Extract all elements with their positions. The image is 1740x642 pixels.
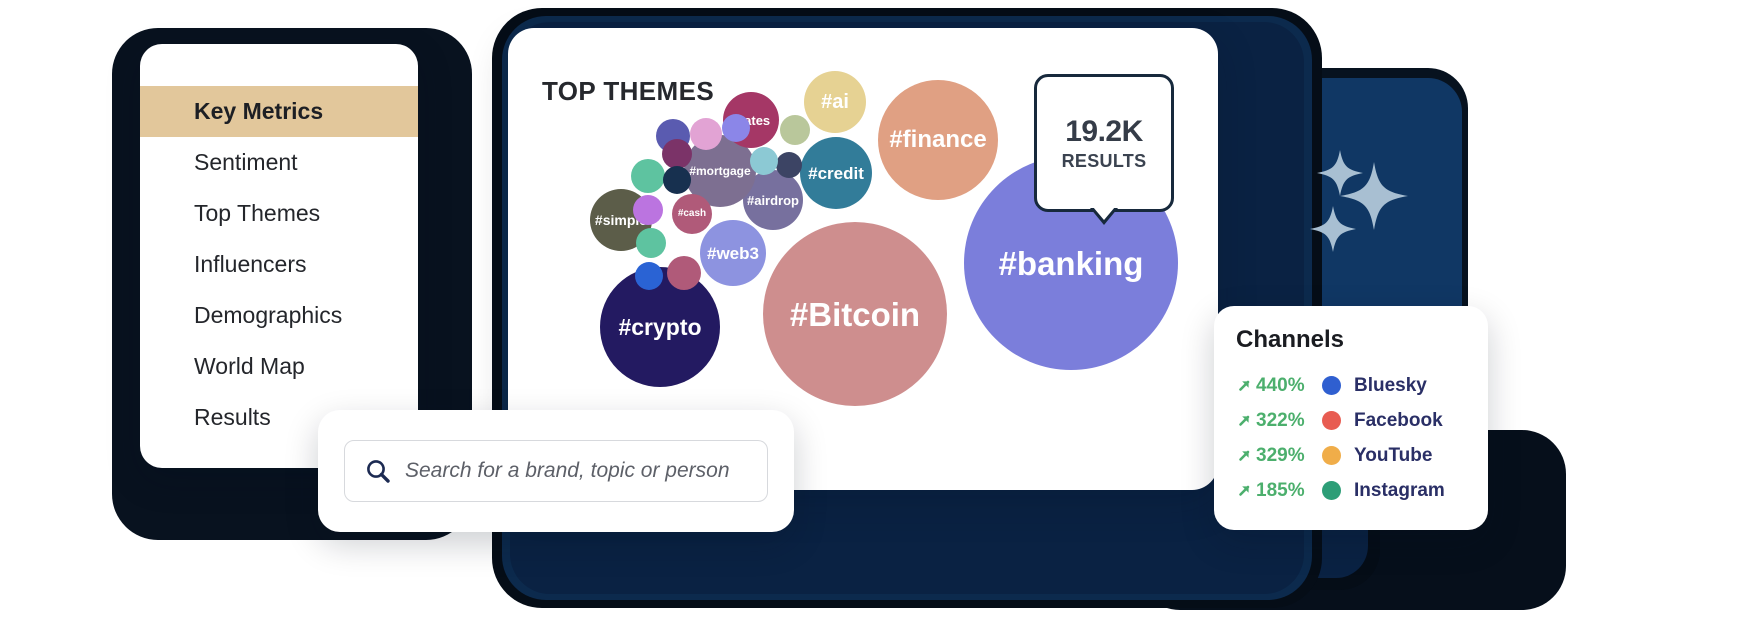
sparkles-icon [1300, 140, 1440, 270]
sidebar-item-influencers[interactable]: Influencers [140, 239, 418, 290]
search-panel: Search for a brand, topic or person [318, 410, 794, 532]
sidebar-item-label: Demographics [194, 302, 342, 329]
channel-delta: 329% [1236, 445, 1318, 467]
results-label: RESULTS [1062, 151, 1147, 172]
bubble-label: #cash [678, 209, 706, 219]
channel-delta-value: 440% [1256, 375, 1305, 397]
bubble-label: #credit [808, 165, 864, 182]
bubble-decorative[interactable] [663, 166, 691, 194]
bubble-decorative[interactable] [633, 195, 663, 225]
search-placeholder: Search for a brand, topic or person [405, 459, 730, 483]
sidebar-panel: Key Metrics Sentiment Top Themes Influen… [140, 44, 418, 468]
channels-panel: Channels 440%Bluesky322%Facebook329%YouT… [1214, 306, 1488, 530]
results-callout: 19.2K RESULTS [1034, 74, 1174, 212]
sidebar-item-label: Top Themes [194, 200, 320, 227]
sidebar-item-world-map[interactable]: World Map [140, 341, 418, 392]
channel-delta-value: 322% [1256, 410, 1305, 432]
bubble-decorative[interactable] [776, 152, 802, 178]
sidebar-item-label: Results [194, 404, 271, 431]
trend-up-icon [1236, 412, 1253, 429]
sidebar-item-sentiment[interactable]: Sentiment [140, 137, 418, 188]
bubble-label: #finance [889, 128, 986, 152]
trend-up-icon [1236, 482, 1253, 499]
channel-delta: 322% [1236, 410, 1318, 432]
bubble-decorative[interactable] [636, 228, 666, 258]
bubble-decorative[interactable] [667, 256, 701, 290]
bubble-decorative[interactable] [690, 118, 722, 150]
search-icon [365, 458, 391, 484]
sidebar-item-top-themes[interactable]: Top Themes [140, 188, 418, 239]
channel-color-dot [1322, 411, 1341, 430]
sidebar-item-label: Sentiment [194, 149, 298, 176]
bubble-crypto[interactable]: #crypto [600, 267, 720, 387]
channel-row[interactable]: 329%YouTube [1236, 438, 1470, 473]
results-count: 19.2K [1065, 115, 1143, 149]
trend-up-icon [1236, 377, 1253, 394]
bubble-label: #web3 [707, 245, 759, 262]
bubble-credit[interactable]: #credit [800, 137, 872, 209]
bubble-label: #airdrop [747, 194, 799, 207]
sidebar-item-label: Key Metrics [194, 98, 323, 125]
bubble-decorative[interactable] [662, 139, 692, 169]
bubble-Bitcoin[interactable]: #Bitcoin [763, 222, 947, 406]
bubble-label: #crypto [618, 316, 701, 339]
trend-up-icon [1236, 447, 1253, 464]
bubble-ai[interactable]: #ai [804, 71, 866, 133]
bubble-label: #banking [999, 247, 1144, 280]
bubble-label: #ai [821, 92, 849, 112]
bubble-label: #mortgage [689, 165, 750, 177]
sidebar-nav: Key Metrics Sentiment Top Themes Influen… [140, 44, 418, 443]
bubble-decorative[interactable] [722, 114, 750, 142]
channels-title: Channels [1236, 326, 1344, 354]
channel-name: Instagram [1354, 480, 1445, 502]
channels-list: 440%Bluesky322%Facebook329%YouTube185%In… [1236, 368, 1470, 508]
bubble-cash[interactable]: #cash [672, 194, 712, 234]
search-input[interactable]: Search for a brand, topic or person [344, 440, 768, 502]
channel-delta: 440% [1236, 375, 1318, 397]
bubble-label: #Bitcoin [790, 298, 920, 331]
channel-delta-value: 185% [1256, 480, 1305, 502]
bubble-decorative[interactable] [631, 159, 665, 193]
sidebar-item-label: World Map [194, 353, 305, 380]
bubble-decorative[interactable] [750, 147, 778, 175]
channel-name: Facebook [1354, 410, 1443, 432]
channel-row[interactable]: 440%Bluesky [1236, 368, 1470, 403]
sidebar-item-key-metrics[interactable]: Key Metrics [140, 86, 418, 137]
bubble-decorative[interactable] [780, 115, 810, 145]
sidebar-item-label: Influencers [194, 251, 307, 278]
channel-color-dot [1322, 446, 1341, 465]
channel-name: YouTube [1354, 445, 1432, 467]
channel-color-dot [1322, 376, 1341, 395]
channel-name: Bluesky [1354, 375, 1427, 397]
channel-delta: 185% [1236, 480, 1318, 502]
screenshot-root: Key Metrics Sentiment Top Themes Influen… [0, 0, 1740, 642]
callout-pointer-inner [1093, 207, 1115, 220]
channel-row[interactable]: 322%Facebook [1236, 403, 1470, 438]
sidebar-item-demographics[interactable]: Demographics [140, 290, 418, 341]
bubble-decorative[interactable] [635, 262, 663, 290]
channel-color-dot [1322, 481, 1341, 500]
bubble-web3[interactable]: #web3 [700, 220, 766, 286]
channel-delta-value: 329% [1256, 445, 1305, 467]
bubble-finance[interactable]: #finance [878, 80, 998, 200]
channel-row[interactable]: 185%Instagram [1236, 473, 1470, 508]
